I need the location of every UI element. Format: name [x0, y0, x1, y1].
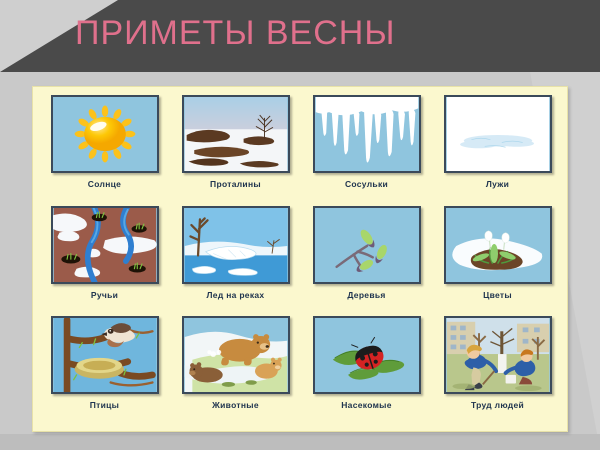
picture-caption: Сосульки [345, 179, 388, 189]
picture-card[interactable]: Цветы [434, 206, 561, 315]
picture-card[interactable]: Животные [172, 316, 299, 425]
slide: ПРИМЕТЫ ВЕСНЫ Солнце Проталины [0, 0, 600, 450]
picture-card[interactable]: Ручьи [41, 206, 168, 315]
thawed-patches-picture[interactable] [182, 95, 290, 173]
picture-card[interactable]: Птицы [41, 316, 168, 425]
picture-caption: Труд людей [471, 400, 524, 410]
picture-caption: Птицы [90, 400, 119, 410]
content-panel: Солнце Проталины [32, 86, 568, 432]
picture-card[interactable]: Солнце [41, 95, 168, 204]
picture-card[interactable]: Деревья [303, 206, 430, 315]
picture-caption: Цветы [483, 290, 512, 300]
sun-picture[interactable] [51, 95, 159, 173]
picture-caption: Солнце [88, 179, 121, 189]
picture-card[interactable]: Проталины [172, 95, 299, 204]
page-title: ПРИМЕТЫ ВЕСНЫ [75, 14, 395, 53]
streams-picture[interactable] [51, 206, 159, 284]
picture-card[interactable]: Лужи [434, 95, 561, 204]
snowdrops-picture[interactable] [444, 206, 552, 284]
picture-caption: Насекомые [341, 400, 392, 410]
ladybug-picture[interactable] [313, 316, 421, 394]
picture-caption: Ручьи [91, 290, 118, 300]
decorative-bottom-band [0, 434, 600, 450]
river-ice-picture[interactable] [182, 206, 290, 284]
picture-caption: Животные [212, 400, 259, 410]
picture-card[interactable]: Труд людей [434, 316, 561, 425]
picture-card[interactable]: Насекомые [303, 316, 430, 425]
picture-caption: Деревья [347, 290, 385, 300]
icicles-picture[interactable] [313, 95, 421, 173]
tree-buds-picture[interactable] [313, 206, 421, 284]
picture-card[interactable]: Сосульки [303, 95, 430, 204]
picture-caption: Проталины [210, 179, 261, 189]
picture-caption: Лед на реках [207, 290, 265, 300]
picture-card[interactable]: Лед на реках [172, 206, 299, 315]
birds-nest-picture[interactable] [51, 316, 159, 394]
people-working-picture[interactable] [444, 316, 552, 394]
bear-family-picture[interactable] [182, 316, 290, 394]
picture-grid: Солнце Проталины [41, 95, 561, 425]
puddles-picture[interactable] [444, 95, 552, 173]
picture-caption: Лужи [486, 179, 509, 189]
